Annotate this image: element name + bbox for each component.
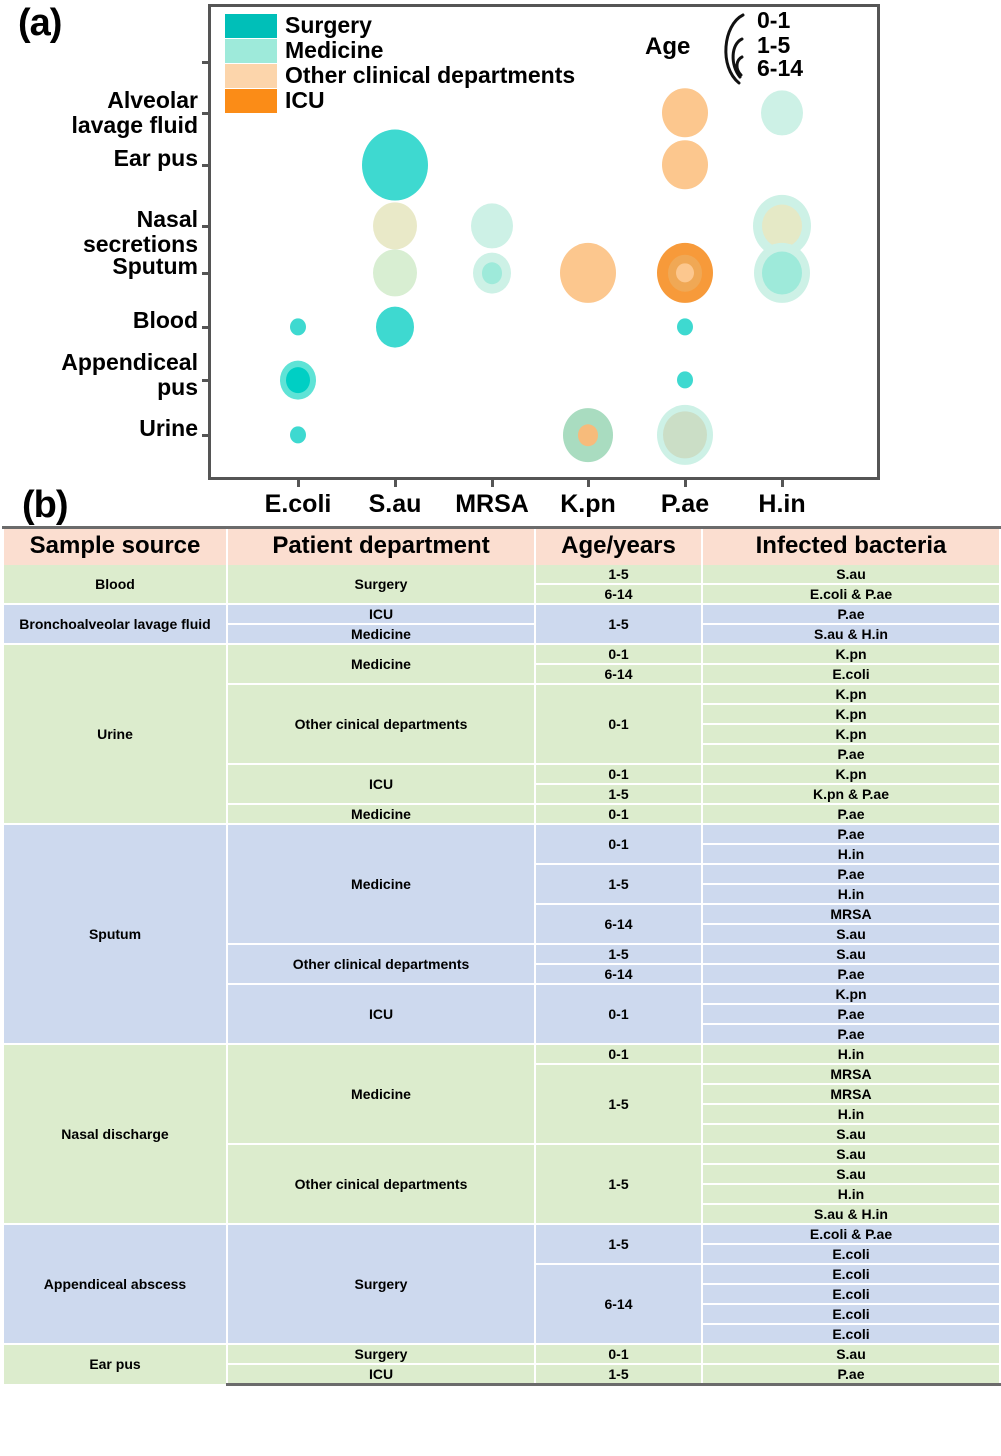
cell-infected-bacteria: K.pn xyxy=(702,764,1000,784)
table-row[interactable]: UrineMedicine0-1K.pn xyxy=(3,644,1000,664)
age-legend-label-0-1: 0-1 xyxy=(757,9,790,32)
cell-infected-bacteria: H.in xyxy=(702,884,1000,904)
legend-item[interactable]: Surgery xyxy=(225,13,645,38)
table-header-cell: Patient department xyxy=(227,528,535,566)
x-axis-tick xyxy=(587,477,590,487)
cell-age: 6-14 xyxy=(535,664,702,684)
cell-age: 0-1 xyxy=(535,804,702,824)
cell-patient-department: Surgery xyxy=(227,565,535,604)
bubble-point xyxy=(286,367,310,393)
bubble-point xyxy=(290,318,306,335)
x-axis-tick xyxy=(684,477,687,487)
x-axis-tick xyxy=(394,477,397,487)
cell-age: 1-5 xyxy=(535,604,702,644)
bubble-point xyxy=(362,130,428,201)
cell-age: 1-5 xyxy=(535,864,702,904)
x-axis-labels: E.coliS.auMRSAK.pnP.aeH.in xyxy=(208,490,880,524)
y-axis-tick xyxy=(202,164,211,167)
legend-swatch-icon xyxy=(225,39,277,63)
cell-infected-bacteria: S.au xyxy=(702,1124,1000,1144)
cell-infected-bacteria: P.ae xyxy=(702,864,1000,884)
x-axis-label: S.au xyxy=(369,490,422,519)
cell-infected-bacteria: K.pn xyxy=(702,984,1000,1004)
cell-age: 1-5 xyxy=(535,1144,702,1224)
cell-age: 0-1 xyxy=(535,644,702,664)
cell-patient-department: Surgery xyxy=(227,1224,535,1344)
cell-patient-department: Other clinical departments xyxy=(227,944,535,984)
bubble-point xyxy=(471,203,513,248)
age-legend-label-1-5: 1-5 xyxy=(757,34,790,57)
table-header-cell: Age/years xyxy=(535,528,702,566)
bubble-chart: SurgeryMedicineOther clinical department… xyxy=(208,4,880,480)
cell-patient-department: ICU xyxy=(227,984,535,1044)
cell-patient-department: Other cinical departments xyxy=(227,1144,535,1224)
bubble-point xyxy=(762,252,802,295)
cell-infected-bacteria: S.au & H.in xyxy=(702,624,1000,644)
cell-sample-source: Sputum xyxy=(3,824,227,1044)
bubble-point xyxy=(677,371,693,388)
cell-infected-bacteria: K.pn xyxy=(702,684,1000,704)
y-axis-tick xyxy=(202,379,211,382)
cell-infected-bacteria: P.ae xyxy=(702,1004,1000,1024)
x-axis-label: K.pn xyxy=(560,490,616,519)
cell-infected-bacteria: S.au xyxy=(702,1344,1000,1364)
legend-item[interactable]: Other clinical departments xyxy=(225,63,645,88)
cell-infected-bacteria: P.ae xyxy=(702,744,1000,764)
y-axis-label: Alveolarlavage fluid xyxy=(71,88,198,138)
cell-patient-department: Surgery xyxy=(227,1344,535,1364)
cell-infected-bacteria: S.au & H.in xyxy=(702,1204,1000,1224)
cell-infected-bacteria: E.coli xyxy=(702,1244,1000,1264)
age-legend-title: Age xyxy=(645,33,690,61)
age-legend-label-6-14: 6-14 xyxy=(757,57,803,80)
legend-item[interactable]: ICU xyxy=(225,88,645,113)
cell-infected-bacteria: P.ae xyxy=(702,1024,1000,1044)
table-row[interactable]: Bronchoalveolar lavage fluidICU1-5P.ae xyxy=(3,604,1000,624)
cell-infected-bacteria: S.au xyxy=(702,944,1000,964)
legend-swatch-icon xyxy=(225,64,277,88)
cell-infected-bacteria: K.pn & P.ae xyxy=(702,784,1000,804)
bubble-point xyxy=(373,249,417,296)
y-axis-label: Blood xyxy=(133,308,198,333)
legend-swatch-icon xyxy=(225,89,277,113)
cell-sample-source: Nasal discharge xyxy=(3,1044,227,1224)
cell-infected-bacteria: K.pn xyxy=(702,644,1000,664)
cell-sample-source: Urine xyxy=(3,644,227,824)
department-legend: SurgeryMedicineOther clinical department… xyxy=(225,13,645,113)
cell-age: 0-1 xyxy=(535,1044,702,1064)
bubble-point xyxy=(762,205,802,248)
table-header: Sample sourcePatient departmentAge/years… xyxy=(3,528,1000,566)
legend-label: Other clinical departments xyxy=(285,62,575,89)
x-axis-label: H.in xyxy=(758,490,805,519)
sample-table-wrapper: Sample sourcePatient departmentAge/years… xyxy=(2,526,999,1386)
age-size-legend: Age 0-1 1-5 6-14 xyxy=(645,9,865,87)
x-axis-label: E.coli xyxy=(265,490,332,519)
table-header-cell: Sample source xyxy=(3,528,227,566)
cell-infected-bacteria: P.ae xyxy=(702,964,1000,984)
bubble-point xyxy=(560,243,616,303)
panel-b-label: (b) xyxy=(22,484,68,527)
cell-infected-bacteria: E.coli xyxy=(702,664,1000,684)
cell-age: 0-1 xyxy=(535,684,702,764)
cell-age: 0-1 xyxy=(535,824,702,864)
cell-infected-bacteria: S.au xyxy=(702,565,1000,584)
bubble-point xyxy=(482,262,502,284)
cell-age: 6-14 xyxy=(535,904,702,944)
cell-infected-bacteria: S.au xyxy=(702,1144,1000,1164)
y-axis-tick xyxy=(202,272,211,275)
cell-infected-bacteria: H.in xyxy=(702,844,1000,864)
y-axis-tick xyxy=(202,61,211,64)
cell-infected-bacteria: MRSA xyxy=(702,1064,1000,1084)
y-axis-tick xyxy=(202,434,211,437)
cell-infected-bacteria: E.coli xyxy=(702,1264,1000,1284)
cell-age: 1-5 xyxy=(535,565,702,584)
cell-age: 0-1 xyxy=(535,984,702,1044)
cell-infected-bacteria: H.in xyxy=(702,1184,1000,1204)
table-header-cell: Infected bacteria xyxy=(702,528,1000,566)
cell-infected-bacteria: E.coli & P.ae xyxy=(702,1224,1000,1244)
x-axis-tick xyxy=(297,477,300,487)
cell-infected-bacteria: E.coli xyxy=(702,1284,1000,1304)
table-row[interactable]: BloodSurgery1-5S.au xyxy=(3,565,1000,584)
cell-infected-bacteria: P.ae xyxy=(702,1364,1000,1385)
legend-label: Surgery xyxy=(285,12,372,39)
x-axis-label: P.ae xyxy=(661,490,709,519)
bubble-point xyxy=(662,88,708,137)
bubble-point xyxy=(373,202,417,249)
cell-age: 6-14 xyxy=(535,1264,702,1344)
cell-age: 1-5 xyxy=(535,1364,702,1385)
cell-patient-department: ICU xyxy=(227,1364,535,1385)
cell-patient-department: Medicine xyxy=(227,1044,535,1144)
cell-infected-bacteria: P.ae xyxy=(702,824,1000,844)
cell-patient-department: Medicine xyxy=(227,824,535,944)
cell-infected-bacteria: S.au xyxy=(702,924,1000,944)
age-arc-icon xyxy=(709,11,755,87)
cell-infected-bacteria: P.ae xyxy=(702,804,1000,824)
cell-sample-source: Ear pus xyxy=(3,1344,227,1385)
cell-infected-bacteria: E.coli & P.ae xyxy=(702,584,1000,604)
cell-age: 1-5 xyxy=(535,1064,702,1144)
y-axis-label: Sputum xyxy=(112,254,198,279)
y-axis-labels: Alveolarlavage fluidEar pusNasalsecretio… xyxy=(0,0,198,480)
cell-patient-department: Medicine xyxy=(227,624,535,644)
bubble-point xyxy=(578,424,598,446)
sample-table: Sample sourcePatient departmentAge/years… xyxy=(2,526,1001,1386)
bubble-point xyxy=(290,426,306,443)
cell-infected-bacteria: E.coli xyxy=(702,1324,1000,1344)
cell-age: 0-1 xyxy=(535,764,702,784)
cell-age: 1-5 xyxy=(535,1224,702,1264)
cell-infected-bacteria: H.in xyxy=(702,1044,1000,1064)
cell-age: 6-14 xyxy=(535,964,702,984)
legend-swatch-icon xyxy=(225,14,277,38)
bubble-point xyxy=(677,318,693,335)
legend-label: Medicine xyxy=(285,37,383,64)
cell-infected-bacteria: MRSA xyxy=(702,1084,1000,1104)
y-axis-label: Nasalsecretions xyxy=(83,207,198,257)
table-header-row: Sample sourcePatient departmentAge/years… xyxy=(3,528,1000,566)
legend-item[interactable]: Medicine xyxy=(225,38,645,63)
table-row[interactable]: SputumMedicine0-1P.ae xyxy=(3,824,1000,844)
table-row[interactable]: Appendiceal abscessSurgery1-5E.coli & P.… xyxy=(3,1224,1000,1244)
cell-age: 6-14 xyxy=(535,584,702,604)
bubble-point xyxy=(663,411,707,458)
y-axis-label: Appendicealpus xyxy=(61,350,198,400)
bubble-point xyxy=(761,90,803,135)
cell-age: 1-5 xyxy=(535,944,702,964)
x-axis-label: MRSA xyxy=(455,490,529,519)
y-axis-tick xyxy=(202,326,211,329)
cell-infected-bacteria: P.ae xyxy=(702,604,1000,624)
table-row[interactable]: Nasal dischargeMedicine0-1H.in xyxy=(3,1044,1000,1064)
cell-patient-department: Medicine xyxy=(227,804,535,824)
cell-sample-source: Bronchoalveolar lavage fluid xyxy=(3,604,227,644)
table-body: BloodSurgery1-5S.au6-14E.coli & P.aeBron… xyxy=(3,565,1000,1385)
cell-infected-bacteria: MRSA xyxy=(702,904,1000,924)
bubble-point xyxy=(376,307,414,348)
cell-sample-source: Blood xyxy=(3,565,227,604)
cell-infected-bacteria: S.au xyxy=(702,1164,1000,1184)
cell-age: 1-5 xyxy=(535,784,702,804)
cell-patient-department: Other cinical departments xyxy=(227,684,535,764)
legend-label: ICU xyxy=(285,87,325,114)
x-axis-tick xyxy=(781,477,784,487)
cell-infected-bacteria: E.coli xyxy=(702,1304,1000,1324)
table-row[interactable]: Ear pusSurgery0-1S.au xyxy=(3,1344,1000,1364)
cell-infected-bacteria: H.in xyxy=(702,1104,1000,1124)
cell-sample-source: Appendiceal abscess xyxy=(3,1224,227,1344)
x-axis-tick xyxy=(491,477,494,487)
y-axis-label: Urine xyxy=(139,416,198,441)
cell-infected-bacteria: K.pn xyxy=(702,724,1000,744)
cell-patient-department: Medicine xyxy=(227,644,535,684)
cell-patient-department: ICU xyxy=(227,764,535,804)
y-axis-tick xyxy=(202,112,211,115)
y-axis-label: Ear pus xyxy=(114,146,198,171)
bubble-point xyxy=(662,140,708,189)
cell-patient-department: ICU xyxy=(227,604,535,624)
y-axis-tick xyxy=(202,225,211,228)
cell-age: 0-1 xyxy=(535,1344,702,1364)
cell-infected-bacteria: K.pn xyxy=(702,704,1000,724)
